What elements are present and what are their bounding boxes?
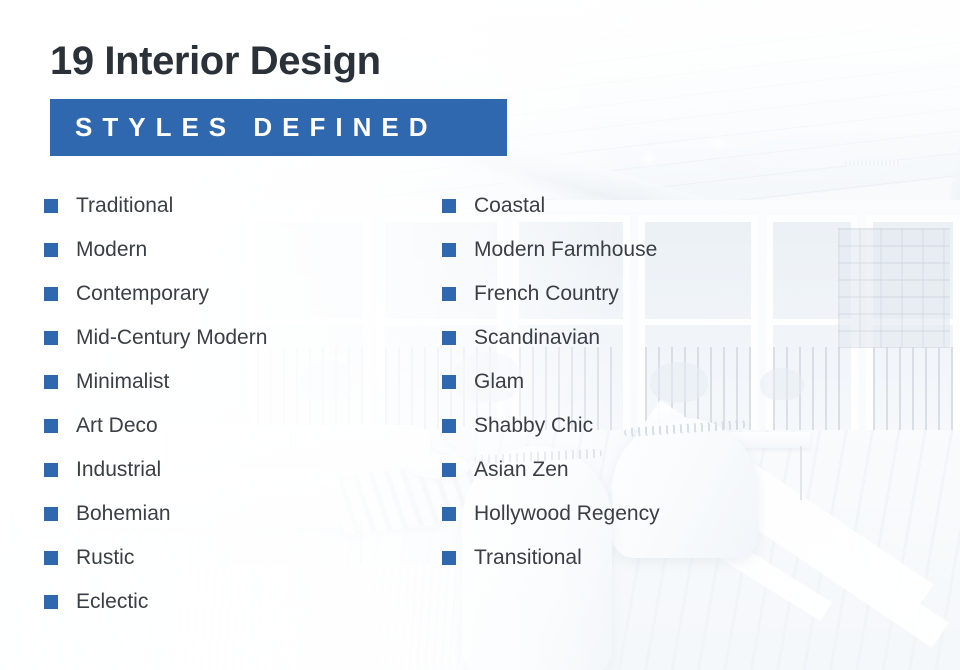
list-item[interactable]: Modern Farmhouse <box>442 228 660 272</box>
square-bullet-icon <box>44 595 58 609</box>
square-bullet-icon <box>442 507 456 521</box>
list-item-label: Eclectic <box>76 590 148 614</box>
list-item-label: Industrial <box>76 458 161 482</box>
square-bullet-icon <box>44 507 58 521</box>
square-bullet-icon <box>44 375 58 389</box>
list-item[interactable]: Industrial <box>44 448 267 492</box>
list-item-label: Transitional <box>474 546 582 570</box>
list-item[interactable]: French Country <box>442 272 660 316</box>
list-item[interactable]: Transitional <box>442 536 660 580</box>
list-item[interactable]: Asian Zen <box>442 448 660 492</box>
list-item-label: Minimalist <box>76 370 169 394</box>
list-item[interactable]: Hollywood Regency <box>442 492 660 536</box>
square-bullet-icon <box>44 243 58 257</box>
list-item[interactable]: Coastal <box>442 184 660 228</box>
list-item[interactable]: Bohemian <box>44 492 267 536</box>
list-item-label: Coastal <box>474 194 545 218</box>
list-item[interactable]: Art Deco <box>44 404 267 448</box>
styles-defined-banner: STYLES DEFINED <box>50 99 507 156</box>
list-item-label: Shabby Chic <box>474 414 593 438</box>
list-item[interactable]: Contemporary <box>44 272 267 316</box>
list-item-label: Scandinavian <box>474 326 600 350</box>
list-item[interactable]: Minimalist <box>44 360 267 404</box>
list-item-label: French Country <box>474 282 619 306</box>
banner-label: STYLES DEFINED <box>50 112 437 143</box>
list-item[interactable]: Glam <box>442 360 660 404</box>
list-item-label: Art Deco <box>76 414 158 438</box>
square-bullet-icon <box>44 463 58 477</box>
square-bullet-icon <box>44 419 58 433</box>
square-bullet-icon <box>44 331 58 345</box>
list-item[interactable]: Rustic <box>44 536 267 580</box>
list-item[interactable]: Mid-Century Modern <box>44 316 267 360</box>
square-bullet-icon <box>442 463 456 477</box>
square-bullet-icon <box>442 199 456 213</box>
page-title: 19 Interior Design <box>50 36 381 86</box>
square-bullet-icon <box>442 287 456 301</box>
square-bullet-icon <box>442 551 456 565</box>
interior-design-styles-infographic: 19 Interior Design STYLES DEFINED Tradit… <box>0 0 960 670</box>
list-item-label: Modern Farmhouse <box>474 238 657 262</box>
list-item[interactable]: Scandinavian <box>442 316 660 360</box>
list-item-label: Glam <box>474 370 524 394</box>
list-item-label: Mid-Century Modern <box>76 326 267 350</box>
square-bullet-icon <box>442 331 456 345</box>
list-item[interactable]: Modern <box>44 228 267 272</box>
list-item-label: Asian Zen <box>474 458 569 482</box>
list-item[interactable]: Eclectic <box>44 580 267 624</box>
styles-column-right: Coastal Modern Farmhouse French Country … <box>442 184 660 580</box>
list-item-label: Hollywood Regency <box>474 502 660 526</box>
square-bullet-icon <box>44 287 58 301</box>
list-item[interactable]: Traditional <box>44 184 267 228</box>
list-item-label: Traditional <box>76 194 173 218</box>
square-bullet-icon <box>442 419 456 433</box>
square-bullet-icon <box>442 243 456 257</box>
list-item-label: Rustic <box>76 546 134 570</box>
square-bullet-icon <box>442 375 456 389</box>
list-item-label: Contemporary <box>76 282 209 306</box>
square-bullet-icon <box>44 551 58 565</box>
square-bullet-icon <box>44 199 58 213</box>
list-item-label: Bohemian <box>76 502 171 526</box>
list-item-label: Modern <box>76 238 147 262</box>
infographic-content: 19 Interior Design STYLES DEFINED Tradit… <box>0 0 960 670</box>
styles-column-left: Traditional Modern Contemporary Mid-Cent… <box>44 184 267 624</box>
list-item[interactable]: Shabby Chic <box>442 404 660 448</box>
